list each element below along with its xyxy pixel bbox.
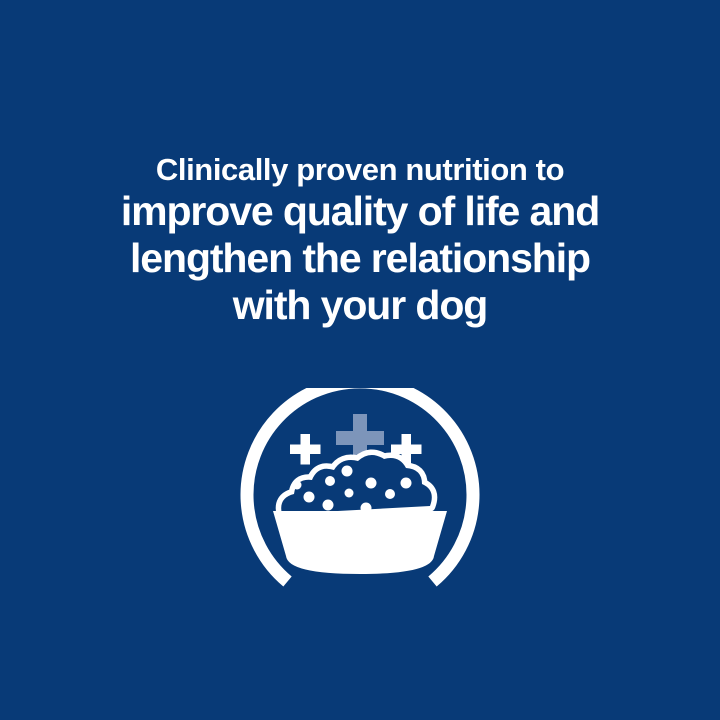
headline-eyebrow: Clinically proven nutrition to bbox=[30, 152, 690, 188]
promo-banner: Clinically proven nutrition to improve q… bbox=[0, 0, 720, 720]
headline-block: Clinically proven nutrition to improve q… bbox=[30, 152, 690, 329]
headline-line-3: with your dog bbox=[30, 282, 690, 329]
headline-line-2: lengthen the relationship bbox=[30, 235, 690, 282]
dog-bowl-with-sparkles-icon bbox=[240, 388, 480, 594]
dog-food-bowl bbox=[273, 511, 447, 574]
plus-small-left bbox=[290, 434, 321, 465]
headline-line-1: improve quality of life and bbox=[30, 188, 690, 235]
dog-bowl-with-sparkles-icon-svg bbox=[240, 388, 480, 594]
